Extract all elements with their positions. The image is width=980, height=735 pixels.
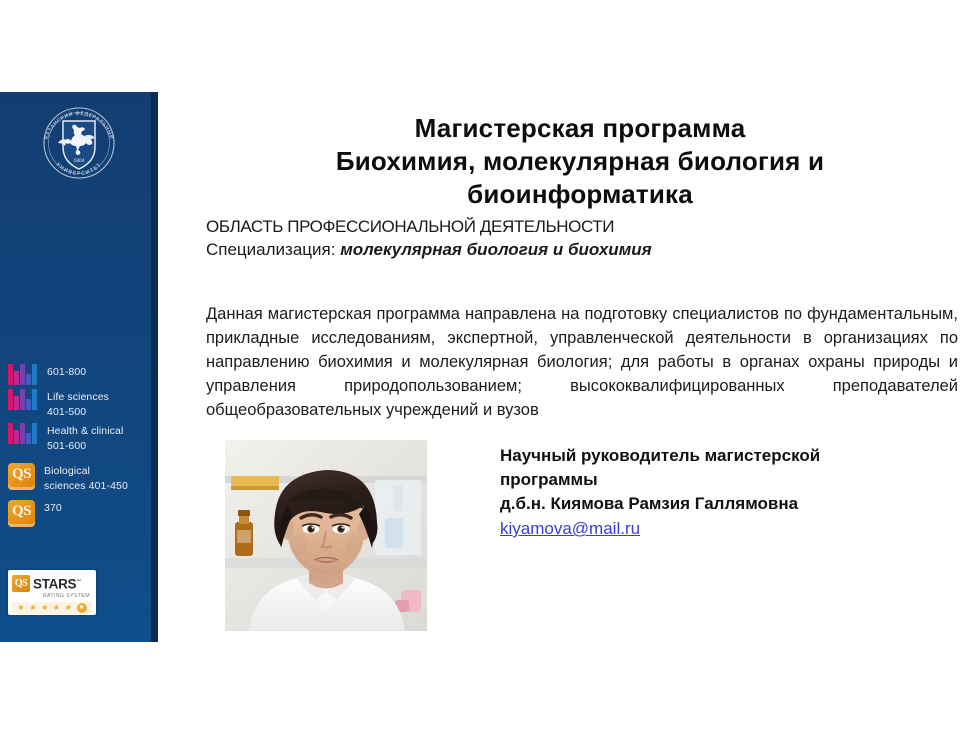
professional-field-label: ОБЛАСТЬ ПРОФЕССИОНАЛЬНОЙ ДЕЯТЕЛЬНОСТИ (206, 216, 966, 238)
supervisor-info: Научный руководитель магистерской програ… (500, 444, 960, 541)
ranking-row: 601-800 (0, 364, 158, 385)
qs-logo-icon: QS (8, 500, 35, 527)
specialization-line: Специализация: молекулярная биология и б… (206, 238, 966, 261)
supervisor-name: д.б.н. Киямова Рамзия Галлямовна (500, 492, 960, 516)
ranking-row: QS 370 (0, 500, 158, 527)
ranking-row: Health & clinical 501-600 (0, 423, 158, 453)
the-logo-icon (8, 389, 38, 410)
title-line-3: биоинформатика (200, 178, 960, 211)
star-icon: ★ (29, 604, 36, 612)
ranking-row: QS Biological sciences 401-450 (0, 463, 158, 493)
specialization-value: молекулярная биология и биохимия (340, 240, 651, 259)
supervisor-role-line-1: Научный руководитель магистерской (500, 444, 960, 468)
presentation-slide: КАЗАНСКИЙ ФЕДЕРАЛЬНЫЙ УНИВЕРСИТЕТ 1804 (0, 0, 980, 735)
title-line-1: Магистерская программа (200, 112, 960, 145)
kfu-emblem-icon: КАЗАНСКИЙ ФЕДЕРАЛЬНЫЙ УНИВЕРСИТЕТ 1804 (36, 100, 122, 186)
star-icon: ★ (65, 604, 72, 612)
qs-stars-badge: QS STARS™ RATING SYSTEM ★ ★ ★ ★ ★ ★ (8, 570, 96, 615)
program-description: Данная магистерская программа направлена… (206, 302, 958, 423)
sidebar-panel: КАЗАНСКИЙ ФЕДЕРАЛЬНЫЙ УНИВЕРСИТЕТ 1804 (0, 92, 158, 642)
ranking-text: Health & clinical 501-600 (47, 423, 123, 453)
supervisor-role-line-2: программы (500, 468, 960, 492)
title-line-2: Биохимия, молекулярная биология и (200, 145, 960, 178)
specialization-label: Специализация: (206, 240, 340, 259)
qs-stars-rating: ★ ★ ★ ★ ★ ★ (12, 602, 92, 614)
ranking-text: Life sciences 401-500 (47, 389, 109, 419)
qs-stars-trademark: ™ (76, 579, 81, 585)
supervisor-email-link[interactable]: kiyamova@mail.ru (500, 517, 640, 541)
star-icon-highlighted: ★ (77, 603, 87, 613)
supervisor-photo (225, 440, 427, 631)
the-logo-icon (8, 364, 38, 385)
qs-stars-title: STARS™ (33, 575, 81, 592)
subheading-block: ОБЛАСТЬ ПРОФЕССИОНАЛЬНОЙ ДЕЯТЕЛЬНОСТИ Сп… (206, 216, 966, 261)
star-icon: ★ (41, 604, 48, 612)
main-content: Магистерская программа Биохимия, молекул… (200, 0, 970, 735)
star-icon: ★ (17, 604, 24, 612)
ranking-text: 370 (44, 500, 62, 516)
page-title: Магистерская программа Биохимия, молекул… (200, 112, 960, 211)
qs-stars-subtitle: RATING SYSTEM (12, 593, 92, 600)
rankings-list: 601-800 Life sciences 401-500 (0, 364, 158, 531)
qs-stars-mark: QS (12, 575, 30, 592)
svg-text:1804: 1804 (74, 158, 85, 164)
star-icon: ★ (53, 604, 60, 612)
the-logo-icon (8, 423, 38, 444)
ranking-row: Life sciences 401-500 (0, 389, 158, 419)
ranking-text: 601-800 (47, 364, 86, 380)
ranking-text: Biological sciences 401-450 (44, 463, 128, 493)
qs-logo-icon: QS (8, 463, 35, 490)
